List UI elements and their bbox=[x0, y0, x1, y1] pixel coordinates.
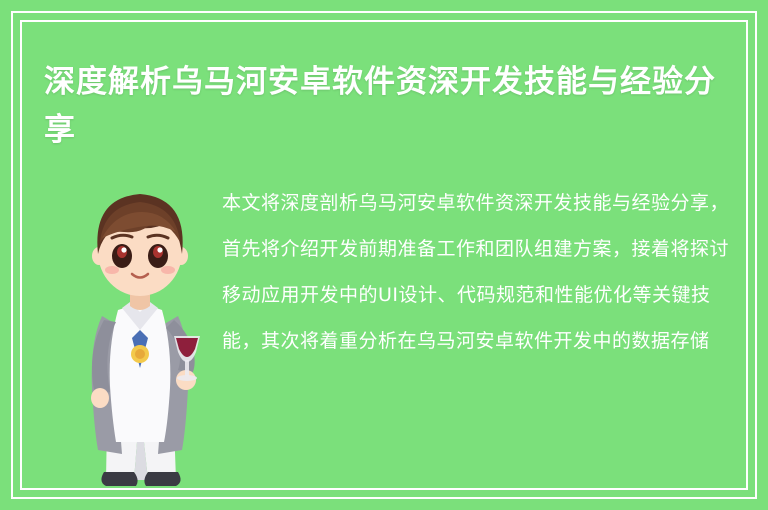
promo-banner: 深度解析乌马河安卓软件资深开发技能与经验分享 本文将深度剖析乌马河安卓软件资深开… bbox=[0, 0, 768, 510]
character-illustration bbox=[56, 168, 224, 490]
banner-title: 深度解析乌马河安卓软件资深开发技能与经验分享 bbox=[44, 58, 734, 154]
banner-body-text: 本文将深度剖析乌马河安卓软件资深开发技能与经验分享，首先将介绍开发前期准备工作和… bbox=[222, 180, 732, 364]
